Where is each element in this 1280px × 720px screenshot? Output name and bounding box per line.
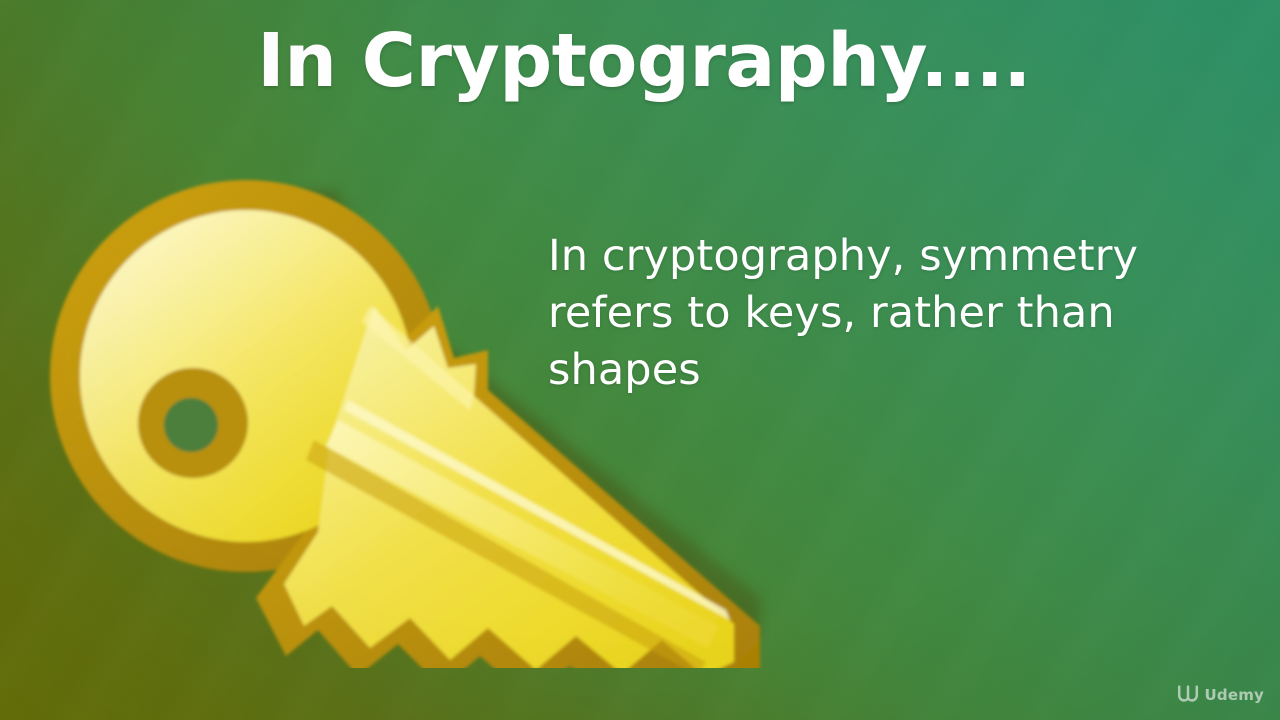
slide-canvas: In Cryptography.... In cryptography, sym…	[0, 0, 1280, 720]
udemy-watermark: Udemy	[1177, 684, 1265, 706]
slide-title: In Cryptography....	[0, 22, 1280, 102]
udemy-watermark-label: Udemy	[1205, 686, 1265, 704]
slide-body-text: In cryptography, symmetry refers to keys…	[548, 228, 1164, 400]
udemy-logo-icon	[1177, 684, 1199, 706]
